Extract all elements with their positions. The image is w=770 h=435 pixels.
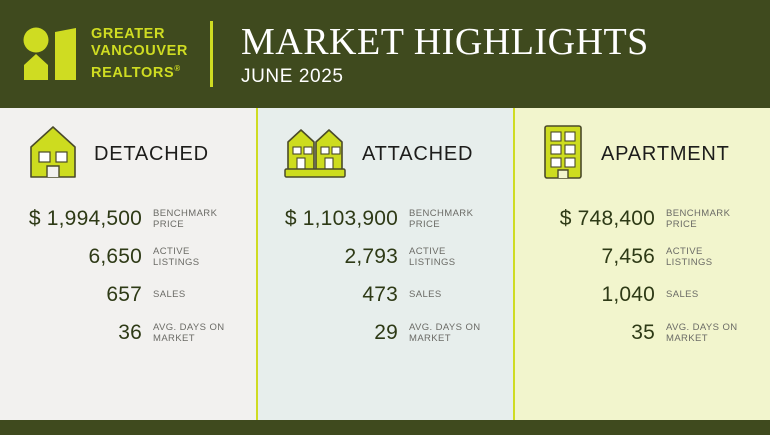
stat-label: AVG. DAYS ON MARKET (409, 322, 481, 345)
header-bar: GREATER VANCOUVER REALTORS® MARKET HIGHL… (0, 0, 770, 108)
stat-label-line1: BENCHMARK (153, 208, 217, 220)
stat-row: $ 1,994,500 BENCHMARK PRICE (8, 200, 242, 238)
stat-row: 657 SALES (8, 276, 242, 314)
panel-divider-1 (256, 108, 258, 420)
stat-label-line2: MARKET (153, 333, 225, 345)
brand-wordmark-line3-wrap: REALTORS® (91, 60, 188, 82)
stat-label-line2: LISTINGS (409, 257, 456, 269)
stat-label-line1: ACTIVE (153, 246, 200, 258)
stat-label-line2: PRICE (666, 219, 730, 231)
stat-label: SALES (409, 289, 442, 301)
panel-attached: ATTACHED $ 1,103,900 BENCHMARK PRICE 2,7… (256, 108, 513, 420)
stat-label-line1: AVG. DAYS ON (153, 322, 225, 334)
stat-label-line2: PRICE (409, 219, 473, 231)
stat-label-line2: MARKET (666, 333, 738, 345)
title-block: MARKET HIGHLIGHTS JUNE 2025 (241, 21, 649, 88)
stat-label-line1: BENCHMARK (666, 208, 730, 220)
stat-row: 36 AVG. DAYS ON MARKET (8, 314, 242, 352)
stat-value: 35 (521, 321, 655, 345)
stat-row: 1,040 SALES (521, 276, 756, 314)
header-vertical-divider (210, 21, 213, 87)
market-highlights-infographic: GREATER VANCOUVER REALTORS® MARKET HIGHL… (0, 0, 770, 435)
stat-label: BENCHMARK PRICE (153, 208, 217, 231)
panel-attached-stats: $ 1,103,900 BENCHMARK PRICE 2,793 ACTIVE… (256, 200, 513, 352)
stat-value: 1,040 (521, 283, 655, 307)
panel-divider-2 (513, 108, 515, 420)
stat-label: AVG. DAYS ON MARKET (153, 322, 225, 345)
stat-label-line1: BENCHMARK (409, 208, 473, 220)
stat-row: 473 SALES (264, 276, 499, 314)
panel-attached-header: ATTACHED (256, 108, 513, 200)
stat-label-line1: SALES (409, 289, 442, 301)
footer-bar (0, 420, 770, 435)
brand-wordmark-line2: VANCOUVER (91, 43, 188, 60)
stat-value: 36 (8, 321, 142, 345)
stat-row: 29 AVG. DAYS ON MARKET (264, 314, 499, 352)
panel-attached-title: ATTACHED (362, 143, 473, 166)
stat-label: ACTIVE LISTINGS (666, 246, 713, 269)
stat-label-line2: LISTINGS (153, 257, 200, 269)
stat-label-line1: AVG. DAYS ON (666, 322, 738, 334)
panel-apartment: APARTMENT $ 748,400 BENCHMARK PRICE 7,45… (513, 108, 770, 420)
stat-row: $ 1,103,900 BENCHMARK PRICE (264, 200, 499, 238)
detached-house-icon (28, 124, 78, 185)
panel-detached-stats: $ 1,994,500 BENCHMARK PRICE 6,650 ACTIVE… (0, 200, 256, 352)
trademark-symbol: ® (174, 64, 181, 73)
attached-townhouse-icon (284, 124, 346, 185)
stat-label: ACTIVE LISTINGS (409, 246, 456, 269)
stat-value: 657 (8, 283, 142, 307)
stats-panels: DETACHED $ 1,994,500 BENCHMARK PRICE 6,6… (0, 108, 770, 420)
stat-value: 29 (264, 321, 398, 345)
stat-label-line1: SALES (666, 289, 699, 301)
stat-value: $ 1,994,500 (8, 207, 142, 231)
stat-value: 2,793 (264, 245, 398, 269)
panel-apartment-header: APARTMENT (513, 108, 770, 200)
stat-row: 7,456 ACTIVE LISTINGS (521, 238, 756, 276)
stat-label-line1: AVG. DAYS ON (409, 322, 481, 334)
stat-label-line1: ACTIVE (666, 246, 713, 258)
panel-apartment-stats: $ 748,400 BENCHMARK PRICE 7,456 ACTIVE L… (513, 200, 770, 352)
apartment-building-icon (541, 123, 585, 186)
stat-label: SALES (666, 289, 699, 301)
stat-row: 2,793 ACTIVE LISTINGS (264, 238, 499, 276)
panel-detached-title: DETACHED (94, 143, 209, 166)
panel-apartment-title: APARTMENT (601, 143, 730, 166)
brand-wordmark: GREATER VANCOUVER REALTORS® (91, 26, 188, 82)
gvr-logo-mark-icon (22, 27, 78, 81)
stat-row: 35 AVG. DAYS ON MARKET (521, 314, 756, 352)
stat-label: AVG. DAYS ON MARKET (666, 322, 738, 345)
stat-label: BENCHMARK PRICE (409, 208, 473, 231)
stat-value: 6,650 (8, 245, 142, 269)
brand-logo: GREATER VANCOUVER REALTORS® (22, 26, 188, 82)
stat-label-line2: LISTINGS (666, 257, 713, 269)
brand-wordmark-line3: REALTORS (91, 65, 174, 81)
stat-value: $ 1,103,900 (264, 207, 398, 231)
stat-value: 7,456 (521, 245, 655, 269)
stat-label-line2: MARKET (409, 333, 481, 345)
stat-label-line1: ACTIVE (409, 246, 456, 258)
stat-label: BENCHMARK PRICE (666, 208, 730, 231)
stat-value: $ 748,400 (521, 207, 655, 231)
stat-row: $ 748,400 BENCHMARK PRICE (521, 200, 756, 238)
stat-label-line1: SALES (153, 289, 186, 301)
stat-label-line2: PRICE (153, 219, 217, 231)
stat-value: 473 (264, 283, 398, 307)
page-title: MARKET HIGHLIGHTS (241, 21, 649, 63)
stat-row: 6,650 ACTIVE LISTINGS (8, 238, 242, 276)
panel-detached: DETACHED $ 1,994,500 BENCHMARK PRICE 6,6… (0, 108, 256, 420)
page-subtitle: JUNE 2025 (241, 66, 649, 88)
stat-label: ACTIVE LISTINGS (153, 246, 200, 269)
panel-detached-header: DETACHED (0, 108, 256, 200)
stat-label: SALES (153, 289, 186, 301)
brand-wordmark-line1: GREATER (91, 26, 188, 43)
